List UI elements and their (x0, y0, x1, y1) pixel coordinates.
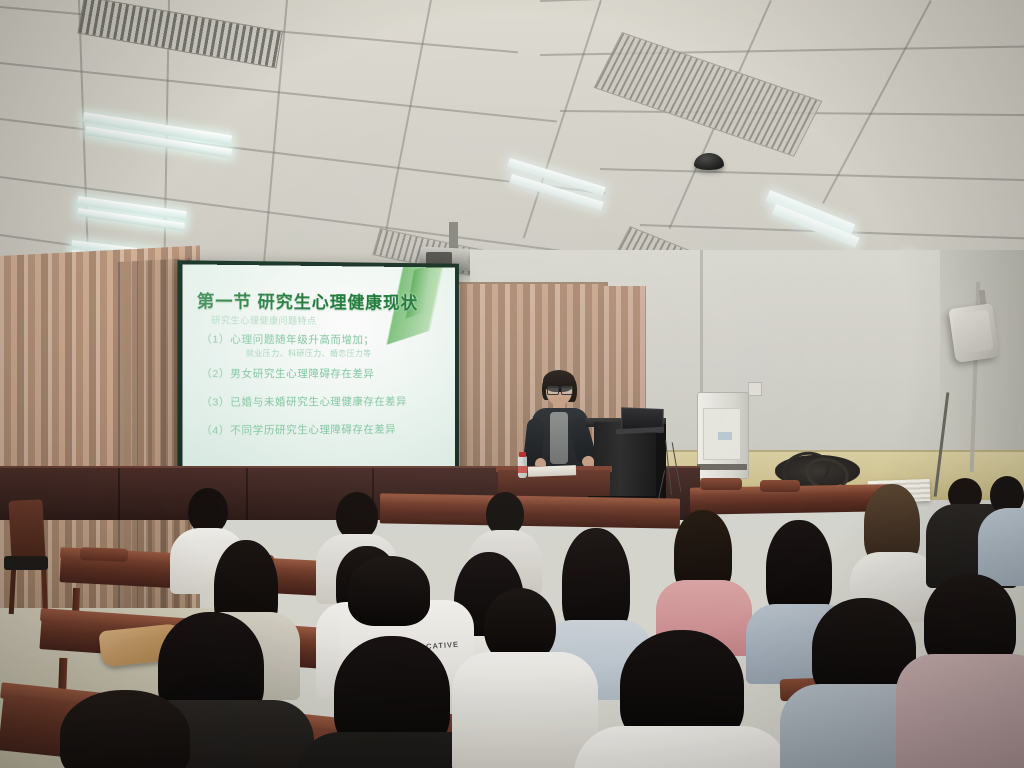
bottle-label (518, 466, 527, 473)
lectern-side (656, 424, 666, 502)
student-body (896, 654, 1024, 768)
panel-seam (118, 468, 120, 520)
slide-bullet-3: （3）已婚与未婚研究生心理健康存在差异 (201, 394, 407, 410)
air-conditioner-label (718, 432, 732, 440)
list-item (458, 588, 588, 768)
slide-bullet-1: （1）心理问题随年级升高而增加； (201, 331, 374, 347)
smoke-detector-icon (694, 153, 724, 170)
student-hair (60, 690, 190, 768)
slide-content: 第一节 研究生心理健康现状 研究生心理健康问题特点 （1）心理问题随年级升高而增… (183, 264, 456, 472)
list-item (60, 690, 190, 768)
list-item (584, 630, 784, 768)
bench-armrest (80, 547, 128, 562)
air-conditioner-strip (697, 464, 747, 470)
list-item (908, 574, 1024, 768)
lecture-hall-photo: 第一节 研究生心理健康现状 研究生心理健康问题特点 （1）心理问题随年级升高而增… (0, 0, 1024, 768)
bench-armrest (700, 478, 742, 490)
list-item (986, 476, 1024, 586)
papers (528, 465, 576, 477)
student-body (452, 652, 598, 768)
slide-bullet-4: （4）不同学历研究生心理障碍存在差异 (201, 422, 396, 438)
bench-armrest (760, 480, 800, 492)
wall-outlet (748, 382, 762, 396)
speaker-grille (952, 310, 993, 355)
student-hair (348, 556, 430, 626)
slide-subtitle: 研究生心理健康问题特点 (211, 313, 316, 327)
chair-backrest (8, 499, 45, 561)
slide-sub-bullet: 就业压力、科研压力、婚恋压力等 (246, 348, 372, 359)
presenter-inner-shirt (550, 412, 568, 464)
student-body (574, 726, 790, 768)
student-head (336, 492, 378, 540)
projection-screen: 第一节 研究生心理健康现状 研究生心理健康问题特点 （1）心理问题随年级升高而增… (183, 264, 456, 472)
slide-title: 第一节 研究生心理健康现状 (197, 287, 446, 314)
glasses-bridge (547, 387, 571, 394)
panel-seam (246, 468, 248, 520)
chair-seat (4, 556, 48, 570)
projector-mount (449, 222, 458, 250)
list-item (660, 510, 746, 640)
bottle-cap (519, 452, 526, 457)
slide-bullet-2: （2）男女研究生心理障碍存在差异 (201, 366, 374, 381)
